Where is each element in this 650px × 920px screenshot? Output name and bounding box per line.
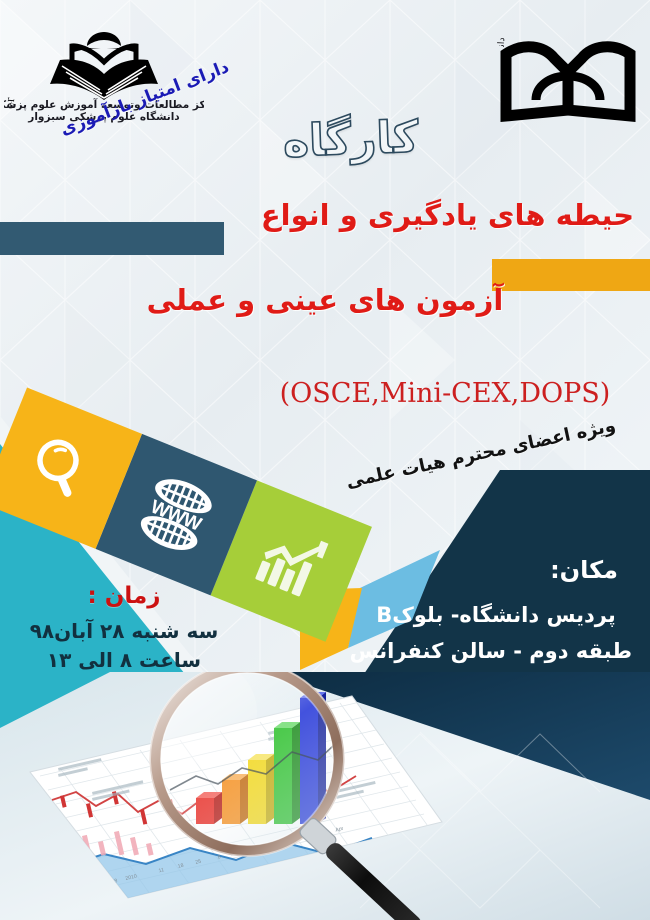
- decor-bar-dark: [0, 222, 224, 255]
- location-line-1: پردیس دانشگاه- بلوکB: [360, 598, 632, 634]
- headline-line-2: آزمون های عینی و عملی: [60, 283, 590, 317]
- workshop-word: کارگاه: [282, 112, 419, 168]
- headline-line-1: حیطه های یادگیری و انواع: [255, 198, 640, 232]
- location-label: مکان:: [360, 556, 632, 584]
- university-logo-right: دانشگاه علوم پزشکی و خدمات بهداشتی درمان…: [488, 2, 648, 126]
- svg-text:Education Development center: Education Development center: [4, 4, 17, 109]
- chart-photo-illustration: 2128 201011 1825 815 22Mar 815 22Apr: [0, 672, 650, 920]
- university-logo-arc-text: دانشگاه علوم پزشکی و خدمات بهداشتی درمان…: [488, 2, 506, 48]
- time-label: زمان :: [8, 583, 240, 609]
- svg-text:دانشگاه علوم پزشکی و خدمات بهد: دانشگاه علوم پزشکی و خدمات بهداشتی درمان…: [488, 2, 506, 48]
- time-hours: ساعت ۸ الی ۱۳: [8, 646, 240, 675]
- poster-root: Education Development center مرکز مطالعا…: [0, 0, 650, 920]
- edc-logo-left-arc-text: Education Development center: [4, 4, 17, 109]
- location-line-2: طبقه دوم - سالن کنفرانس: [360, 634, 632, 670]
- time-date: سه شنبه ۲۸ آبان۹۸: [8, 617, 240, 646]
- magnifier-icon: [18, 425, 104, 511]
- location-block: مکان: پردیس دانشگاه- بلوکB طبقه دوم - سا…: [360, 556, 632, 669]
- www-globe-icon: WWW: [127, 465, 226, 564]
- time-block: زمان : سه شنبه ۲۸ آبان۹۸ ساعت ۸ الی ۱۳: [8, 583, 240, 675]
- open-book-icon: [506, 47, 630, 116]
- bottom-photo: 2128 201011 1825 815 22Mar 815 22Apr: [0, 672, 650, 920]
- growth-chart-icon: [244, 514, 338, 608]
